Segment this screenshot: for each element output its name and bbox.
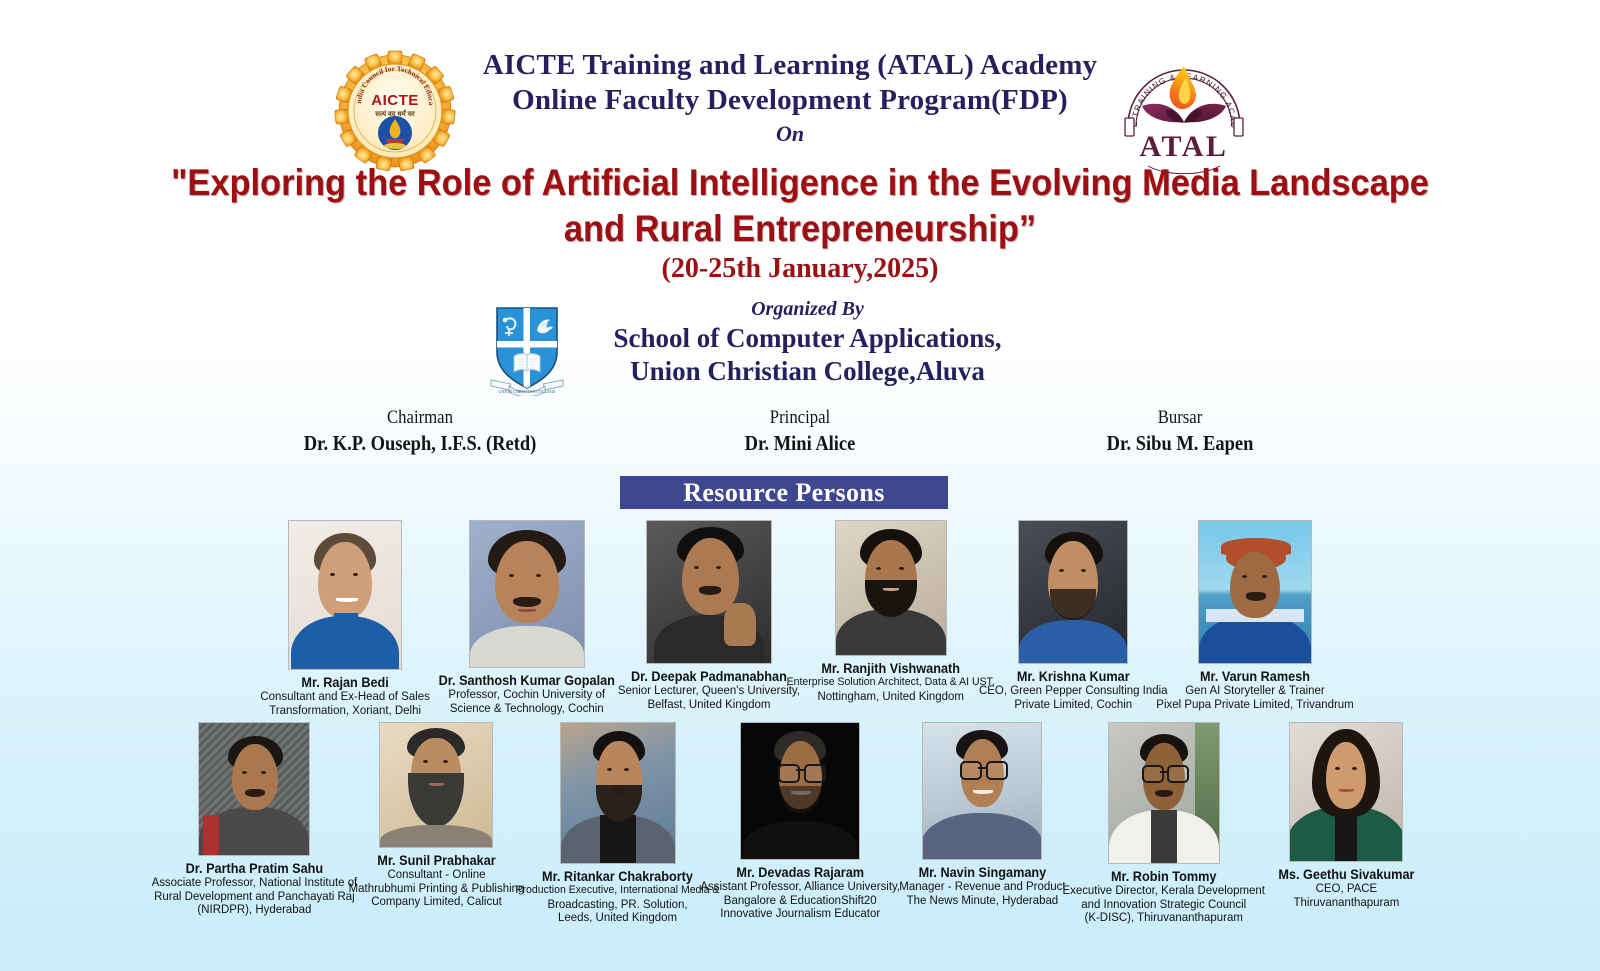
resource-person-photo [1289,722,1403,862]
resource-person-name: Dr. Deepak Padmanabhan [618,669,800,684]
resource-person-photo [646,520,772,664]
resource-person-photo [469,520,585,668]
resource-person-caption: Mr. Ritankar Chakraborty Production Exec… [516,869,720,925]
resource-person-name: Mr. Rajan Bedi [260,675,429,690]
resource-person-affiliation: Innovative Journalism Educator [700,907,900,921]
resource-persons-row-2: Dr. Partha Pratim Sahu Associate Profess… [0,722,1600,925]
resource-person-caption: Mr. Navin Singamany Manager - Revenue an… [899,865,1065,907]
resource-person-card: Dr. Santhosh Kumar Gopalan Professor, Co… [440,520,614,717]
resource-person-photo [288,520,402,670]
resource-person-card: Mr. Ranjith Vishwanath Enterprise Soluti… [804,520,978,717]
resource-person-card: Mr. Navin Singamany Manager - Revenue an… [895,722,1069,925]
organized-by-label: Organized By [590,296,1025,322]
resource-person-affiliation: Enterprise Solution Architect, Data & AI… [787,676,995,690]
resource-person-caption: Mr. Robin Tommy Executive Director, Kera… [1063,869,1265,925]
resource-person-affiliation: Science & Technology, Cochin [439,702,615,716]
atal-logo: AICTE TRAINING & LEARNING ACADEMY ATAL [1110,46,1258,174]
resource-person-name: Mr. Robin Tommy [1063,869,1265,884]
svg-text:AICTE: AICTE [371,92,419,109]
resource-person-caption: Mr. Krishna Kumar CEO, Green Pepper Cons… [979,669,1167,711]
officials-row: Chairman Dr. K.P. Ouseph, I.F.S. (Retd) … [240,405,1360,457]
atal-wordmark: ATAL [1140,130,1229,163]
resource-person-affiliation: Manager - Revenue and Product [899,880,1065,894]
resource-person-photo [1198,520,1312,664]
resource-person-caption: Mr. Devadas Rajaram Assistant Professor,… [700,865,900,921]
resource-person-name: Mr. Ranjith Vishwanath [787,661,995,676]
resource-person-affiliation: Private Limited, Cochin [979,698,1167,712]
header-line-2: Online Faculty Development Program(FDP) [460,83,1120,118]
resource-person-name: Dr. Partha Pratim Sahu [151,861,357,876]
resource-person-card: Ms. Geethu Sivakumar CEO, PACE Thiruvana… [1259,722,1433,925]
resource-person-card: Mr. Robin Tommy Executive Director, Kera… [1077,722,1251,925]
resource-person-affiliation: Bangalore & EducationShift20 [700,894,900,908]
resource-person-caption: Dr. Partha Pratim Sahu Associate Profess… [151,861,357,917]
resource-person-affiliation: Senior Lecturer, Queen's University, [618,684,800,698]
resource-person-affiliation: Broadcasting, PR. Solution, [516,898,720,912]
header-title-block: AICTE Training and Learning (ATAL) Acade… [460,48,1120,150]
resource-person-caption: Mr. Varun Ramesh Gen AI Storyteller & Tr… [1156,669,1353,711]
resource-person-photo [740,722,860,860]
official-bursar: Bursar Dr. Sibu M. Eapen [1000,405,1360,457]
header-row: All India Council for Technical Educatio… [0,26,1600,161]
program-title: "Exploring the Role of Artificial Intell… [168,160,1433,252]
resource-person-affiliation: Belfast, United Kingdom [618,698,800,712]
resource-person-affiliation: Thiruvananthapuram [1278,896,1414,910]
resource-person-caption: Mr. Sunil Prabhakar Consultant - Online … [348,853,524,909]
resource-person-photo [198,722,310,856]
program-dates: (20-25th January,2025) [0,253,1600,285]
resource-person-affiliation: Consultant - Online [348,868,524,882]
resource-person-affiliation: Gen AI Storyteller & Trainer [1156,684,1353,698]
resource-person-affiliation: CEO, PACE [1278,882,1414,896]
ucc-crest-icon: UNION CHRISTIAN COLLEGE [487,302,575,396]
resource-person-affiliation: Nottingham, United Kingdom [787,690,995,704]
resource-person-name: Mr. Varun Ramesh [1156,669,1353,684]
resource-person-affiliation: The News Minute, Hyderabad [899,894,1065,908]
official-principal: Principal Dr. Mini Alice [620,405,980,457]
resource-person-photo [922,722,1042,860]
resource-person-card: Mr. Sunil Prabhakar Consultant - Online … [349,722,523,925]
resource-person-card: Mr. Devadas Rajaram Assistant Professor,… [713,722,887,925]
official-name: Dr. Mini Alice [642,430,959,457]
resource-person-caption: Ms. Geethu Sivakumar CEO, PACE Thiruvana… [1278,867,1414,909]
resource-person-card: Dr. Partha Pratim Sahu Associate Profess… [167,722,341,925]
resource-person-name: Mr. Navin Singamany [899,865,1065,880]
header-on-word: On [460,118,1120,150]
resource-persons-banner: Resource Persons [620,476,948,509]
resource-person-affiliation: Pixel Pupa Private Limited, Trivandrum [1156,698,1353,712]
resource-person-photo [1108,722,1220,864]
resource-person-name: Mr. Ritankar Chakraborty [516,869,720,884]
official-name: Dr. Sibu M. Eapen [1022,430,1339,457]
resource-person-affiliation: (K-DISC), Thiruvananthapuram [1063,911,1265,925]
resource-person-affiliation: Rural Development and Panchayati Raj [151,890,357,904]
resource-person-photo [560,722,676,864]
resource-person-name: Mr. Krishna Kumar [979,669,1167,684]
resource-person-caption: Dr. Santhosh Kumar Gopalan Professor, Co… [439,673,615,715]
resource-person-affiliation: Assistant Professor, Alliance University… [700,880,900,894]
resource-person-affiliation: Mathrubhumi Printing & Publishing [348,882,524,896]
resource-person-name: Dr. Santhosh Kumar Gopalan [439,673,615,688]
resource-person-affiliation: Transformation, Xoriant, Delhi [260,704,429,718]
program-title-line-1: "Exploring the Role of Artificial Intell… [168,160,1433,206]
resource-person-affiliation: Consultant and Ex-Head of Sales [260,690,429,704]
aicte-logo: All India Council for Technical Educatio… [334,50,456,172]
resource-person-card: Mr. Krishna Kumar CEO, Green Pepper Cons… [986,520,1160,717]
atal-logo-icon: AICTE TRAINING & LEARNING ACADEMY ATAL [1110,46,1258,174]
resource-person-affiliation: Company Limited, Calicut [348,895,524,909]
resource-person-photo [1018,520,1128,664]
svg-text:UNION CHRISTIAN COLLEGE: UNION CHRISTIAN COLLEGE [499,389,556,394]
official-name: Dr. K.P. Ouseph, I.F.S. (Retd) [262,430,579,457]
resource-person-affiliation: Leeds, United Kingdom [516,911,720,925]
official-chairman: Chairman Dr. K.P. Ouseph, I.F.S. (Retd) [240,405,600,457]
resource-person-caption: Mr. Ranjith Vishwanath Enterprise Soluti… [787,661,995,703]
resource-persons-row-1: Mr. Rajan Bedi Consultant and Ex-Head of… [0,520,1600,717]
resource-person-affiliation: Professor, Cochin University of [439,688,615,702]
resource-person-name: Ms. Geethu Sivakumar [1278,867,1414,882]
resource-person-card: Mr. Varun Ramesh Gen AI Storyteller & Tr… [1168,520,1342,717]
official-role: Chairman [262,405,579,430]
resource-person-photo [379,722,493,848]
resource-person-caption: Dr. Deepak Padmanabhan Senior Lecturer, … [618,669,800,711]
resource-person-affiliation: Executive Director, Kerala Development [1063,884,1265,898]
resource-person-photo [835,520,947,656]
resource-person-affiliation: Associate Professor, National Institute … [151,876,357,890]
official-role: Bursar [1022,405,1339,430]
organizer-name-line-2: Union Christian College,Aluva [590,355,1025,388]
organizer-block: UNION CHRISTIAN COLLEGE Organized By Sch… [0,296,1600,396]
organizer-text: Organized By School of Computer Applicat… [590,296,1025,388]
resource-person-affiliation: CEO, Green Pepper Consulting India [979,684,1167,698]
resource-person-name: Mr. Devadas Rajaram [700,865,900,880]
resource-person-caption: Mr. Rajan Bedi Consultant and Ex-Head of… [260,675,429,717]
resource-person-card: Mr. Rajan Bedi Consultant and Ex-Head of… [258,520,432,717]
resource-person-affiliation: (NIRDPR), Hyderabad [151,903,357,917]
resource-person-affiliation: Production Executive, International Medi… [516,884,720,898]
program-title-line-2: and Rural Entrepreneurship” [168,206,1433,252]
header-line-1: AICTE Training and Learning (ATAL) Acade… [460,48,1120,83]
aicte-logo-icon: All India Council for Technical Educatio… [334,50,456,172]
official-role: Principal [642,405,959,430]
resource-person-affiliation: and Innovation Strategic Council [1063,898,1265,912]
resource-person-card: Dr. Deepak Padmanabhan Senior Lecturer, … [622,520,796,717]
poster-root: All India Council for Technical Educatio… [0,0,1600,971]
organizer-name-line-1: School of Computer Applications, [590,322,1025,355]
resource-person-card: Mr. Ritankar Chakraborty Production Exec… [531,722,705,925]
resource-person-name: Mr. Sunil Prabhakar [348,853,524,868]
